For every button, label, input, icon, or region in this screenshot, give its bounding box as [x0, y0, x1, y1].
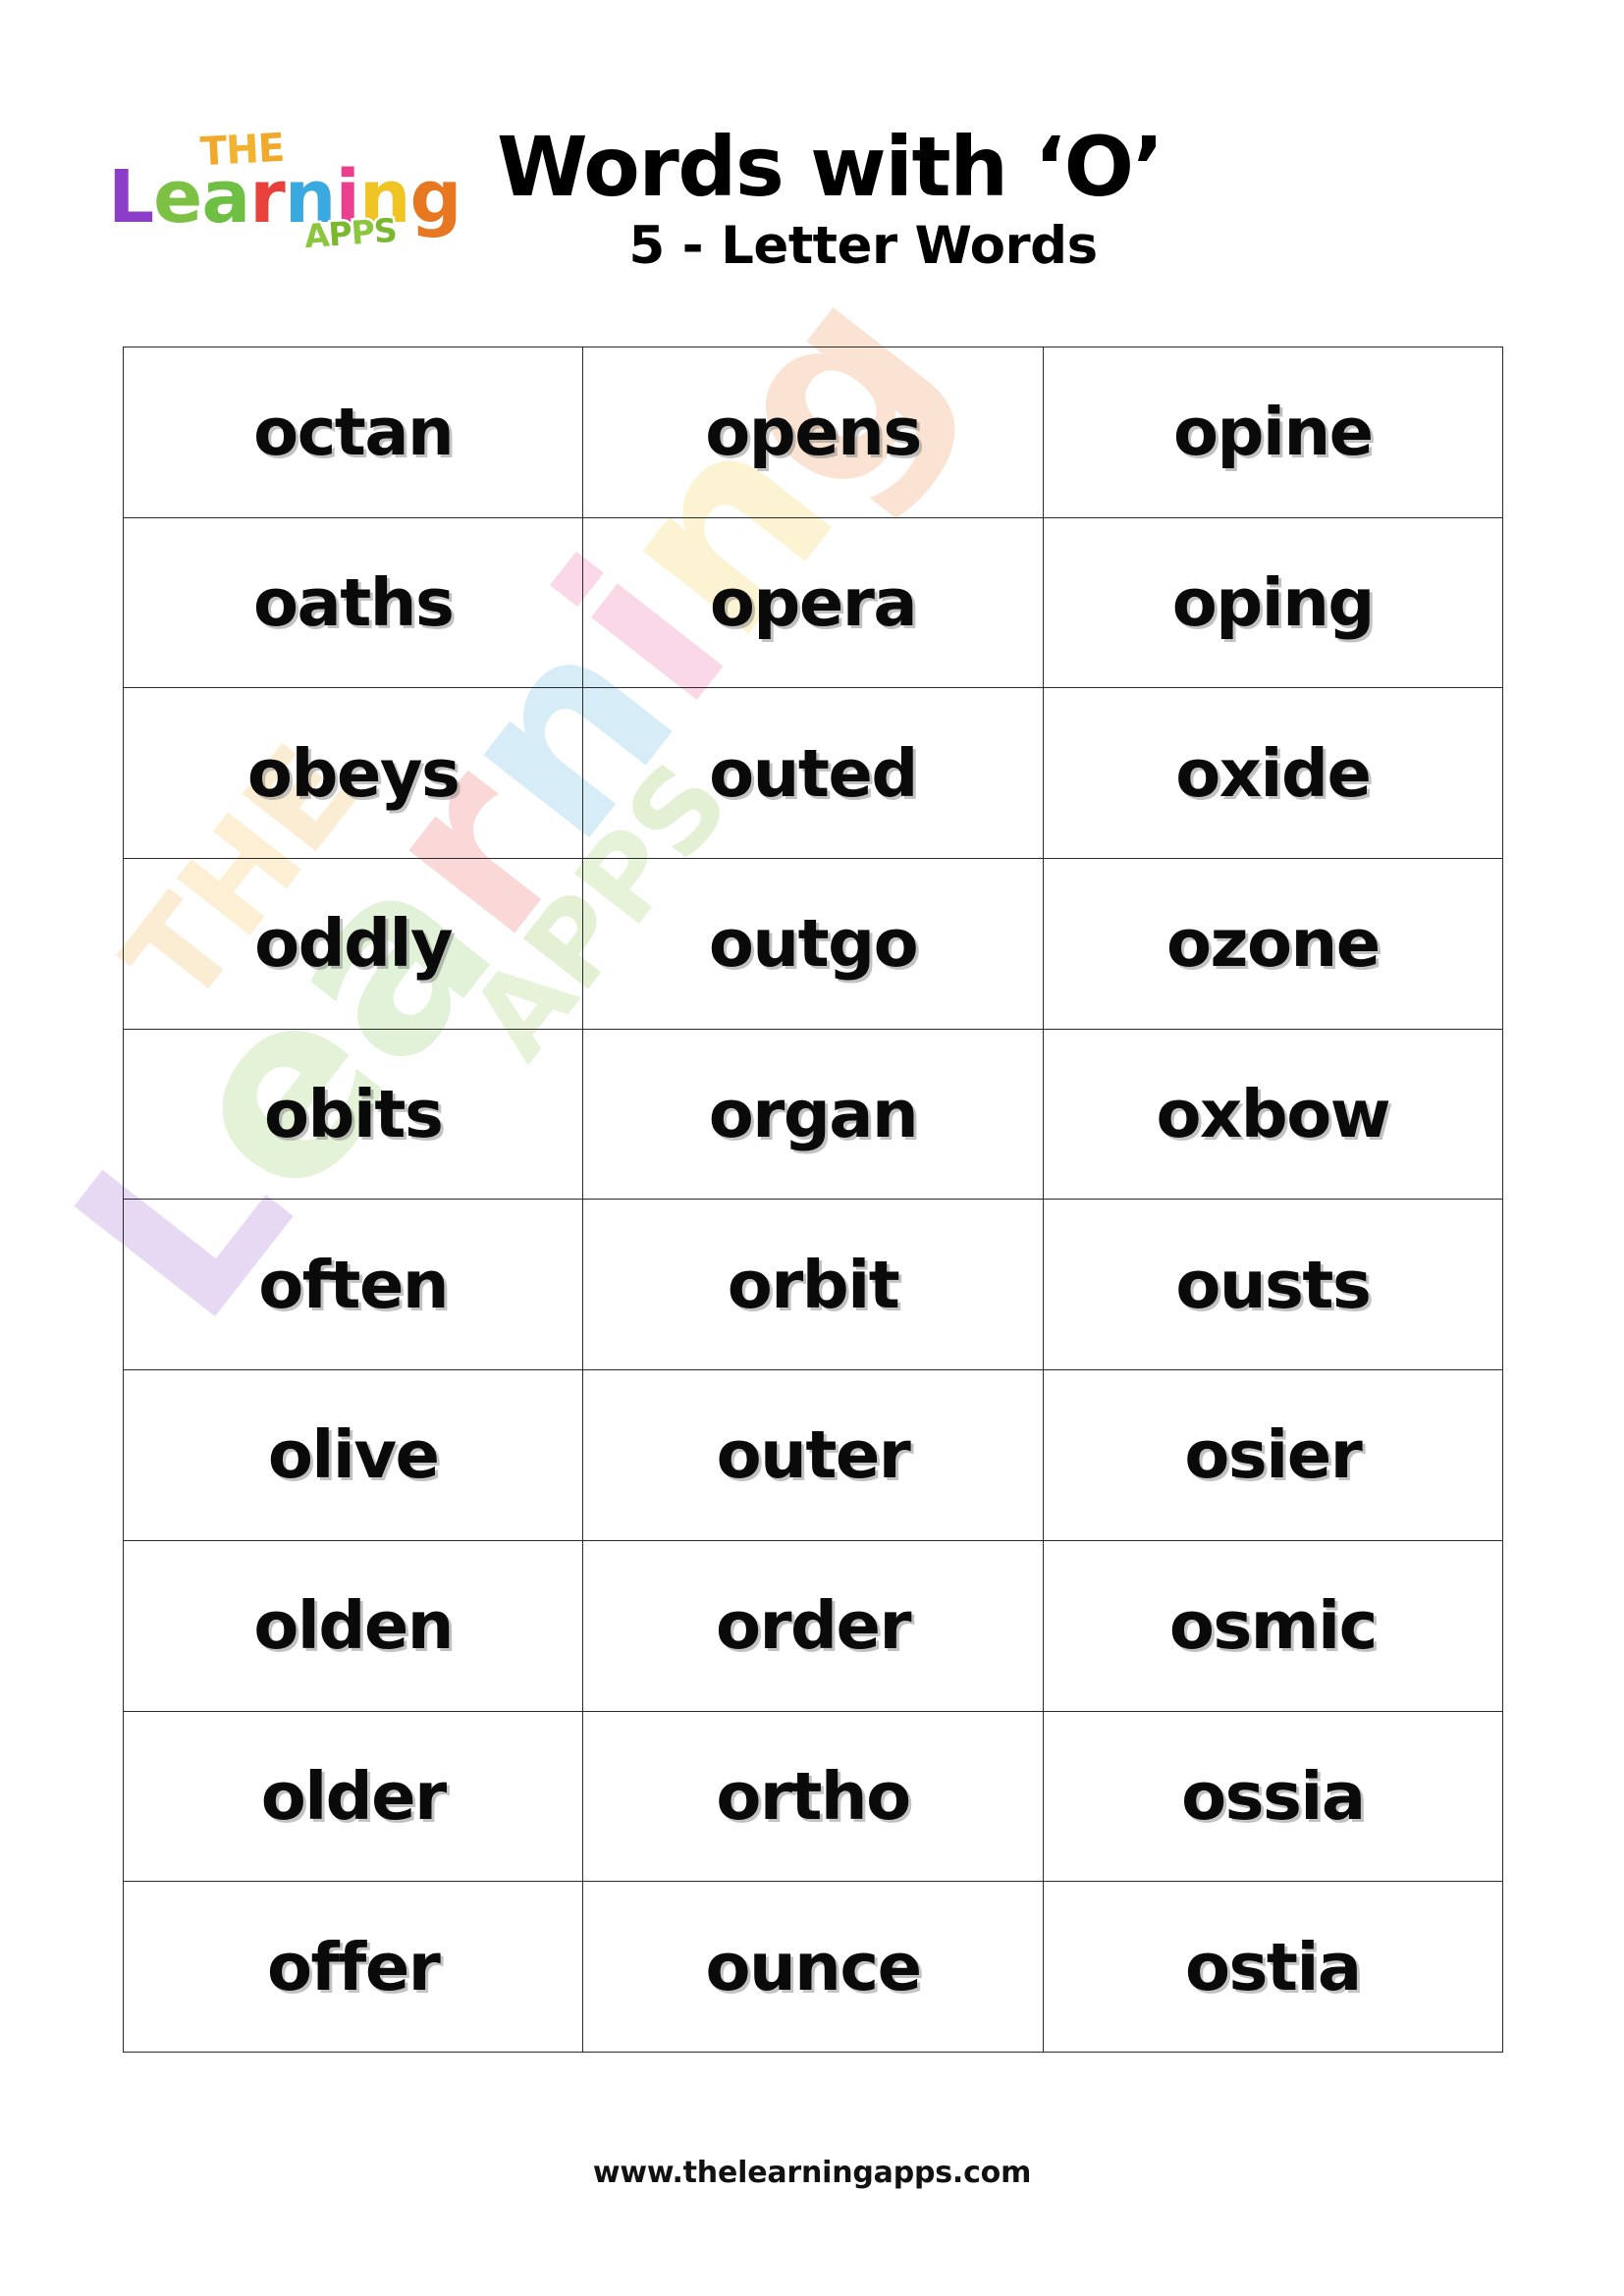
word-text: ounce [705, 1933, 920, 2002]
table-row: obeysoutedoxide [124, 688, 1503, 859]
word-cell: opine [1043, 347, 1502, 518]
word-cell: oping [1043, 517, 1502, 688]
table-row: oddlyoutgoozone [124, 859, 1503, 1030]
word-text: orbit [728, 1251, 899, 1319]
page-header: THE Learning APPS Words with ‘O’ 5 - Let… [0, 0, 1624, 344]
page-footer: www.thelearningapps.com [0, 2156, 1624, 2190]
word-text: olive [268, 1420, 439, 1489]
table-row: oftenorbitousts [124, 1200, 1503, 1370]
word-cell: opera [583, 517, 1043, 688]
word-text: outgo [709, 909, 917, 978]
page-subtitle: 5 - Letter Words [461, 210, 1512, 275]
word-cell: ossia [1043, 1711, 1502, 1882]
word-cell: order [583, 1540, 1043, 1711]
word-text: oaths [253, 568, 453, 637]
word-cell: opens [583, 347, 1043, 518]
word-cell: osier [1043, 1370, 1502, 1541]
word-table-body: octanopensopineoathsoperaopingobeysouted… [124, 347, 1503, 2053]
word-text: older [261, 1762, 446, 1831]
table-row: offerounceostia [124, 1882, 1503, 2053]
word-text: oxbow [1157, 1080, 1390, 1148]
word-cell: ortho [583, 1711, 1043, 1882]
table-row: oldenorderosmic [124, 1540, 1503, 1711]
word-text: offer [267, 1933, 439, 2002]
table-row: olderorthoossia [124, 1711, 1503, 1882]
word-text: obeys [247, 739, 459, 808]
word-cell: ostia [1043, 1882, 1502, 2053]
table-row: obitsorganoxbow [124, 1029, 1503, 1200]
word-text: oddly [254, 909, 452, 978]
word-cell: oddly [124, 859, 583, 1030]
word-cell: oaths [124, 517, 583, 688]
word-cell: orbit [583, 1200, 1043, 1370]
word-cell: octan [124, 347, 583, 518]
footer-website-url: www.thelearningapps.com [593, 2156, 1031, 2190]
word-text: olden [253, 1591, 453, 1660]
word-text: order [716, 1591, 910, 1660]
word-text: organ [709, 1080, 917, 1148]
word-text: opens [705, 398, 921, 466]
word-cell: oxide [1043, 688, 1502, 859]
table-row: oliveouterosier [124, 1370, 1503, 1541]
logo-text-learning: Learning [108, 155, 461, 240]
word-text: ossia [1181, 1762, 1364, 1831]
word-text: octan [253, 398, 453, 466]
word-cell: ounce [583, 1882, 1043, 2053]
word-list-table: octanopensopineoathsoperaopingobeysouted… [123, 347, 1503, 2053]
word-text: oping [1172, 568, 1374, 637]
word-cell: organ [583, 1029, 1043, 1200]
brand-logo: THE Learning APPS [102, 126, 446, 248]
word-cell: oxbow [1043, 1029, 1502, 1200]
word-cell: obeys [124, 688, 583, 859]
word-text: oxide [1175, 739, 1370, 808]
word-cell: osmic [1043, 1540, 1502, 1711]
word-text: outed [709, 739, 917, 808]
title-block: Words with ‘O’ 5 - Letter Words [461, 124, 1512, 275]
word-text: ostia [1185, 1933, 1361, 2002]
word-cell: older [124, 1711, 583, 1882]
word-cell: obits [124, 1029, 583, 1200]
word-text: often [258, 1251, 448, 1319]
word-text: osmic [1169, 1591, 1377, 1660]
word-cell: outgo [583, 859, 1043, 1030]
table-row: octanopensopine [124, 347, 1503, 518]
word-text: osier [1184, 1420, 1361, 1489]
word-cell: ousts [1043, 1200, 1502, 1370]
word-text: ousts [1175, 1251, 1370, 1319]
word-cell: olive [124, 1370, 583, 1541]
word-text: opera [710, 568, 916, 637]
word-text: obits [264, 1080, 442, 1148]
word-cell: olden [124, 1540, 583, 1711]
word-cell: outer [583, 1370, 1043, 1541]
word-cell: ozone [1043, 859, 1502, 1030]
word-cell: outed [583, 688, 1043, 859]
word-text: opine [1173, 398, 1373, 466]
logo-text-apps: APPS [303, 211, 398, 255]
table-row: oathsoperaoping [124, 517, 1503, 688]
page-title: Words with ‘O’ [461, 124, 1512, 210]
word-cell: offer [124, 1882, 583, 2053]
word-text: ozone [1166, 909, 1380, 978]
word-cell: often [124, 1200, 583, 1370]
word-text: ortho [716, 1762, 909, 1831]
word-text: outer [717, 1420, 910, 1489]
